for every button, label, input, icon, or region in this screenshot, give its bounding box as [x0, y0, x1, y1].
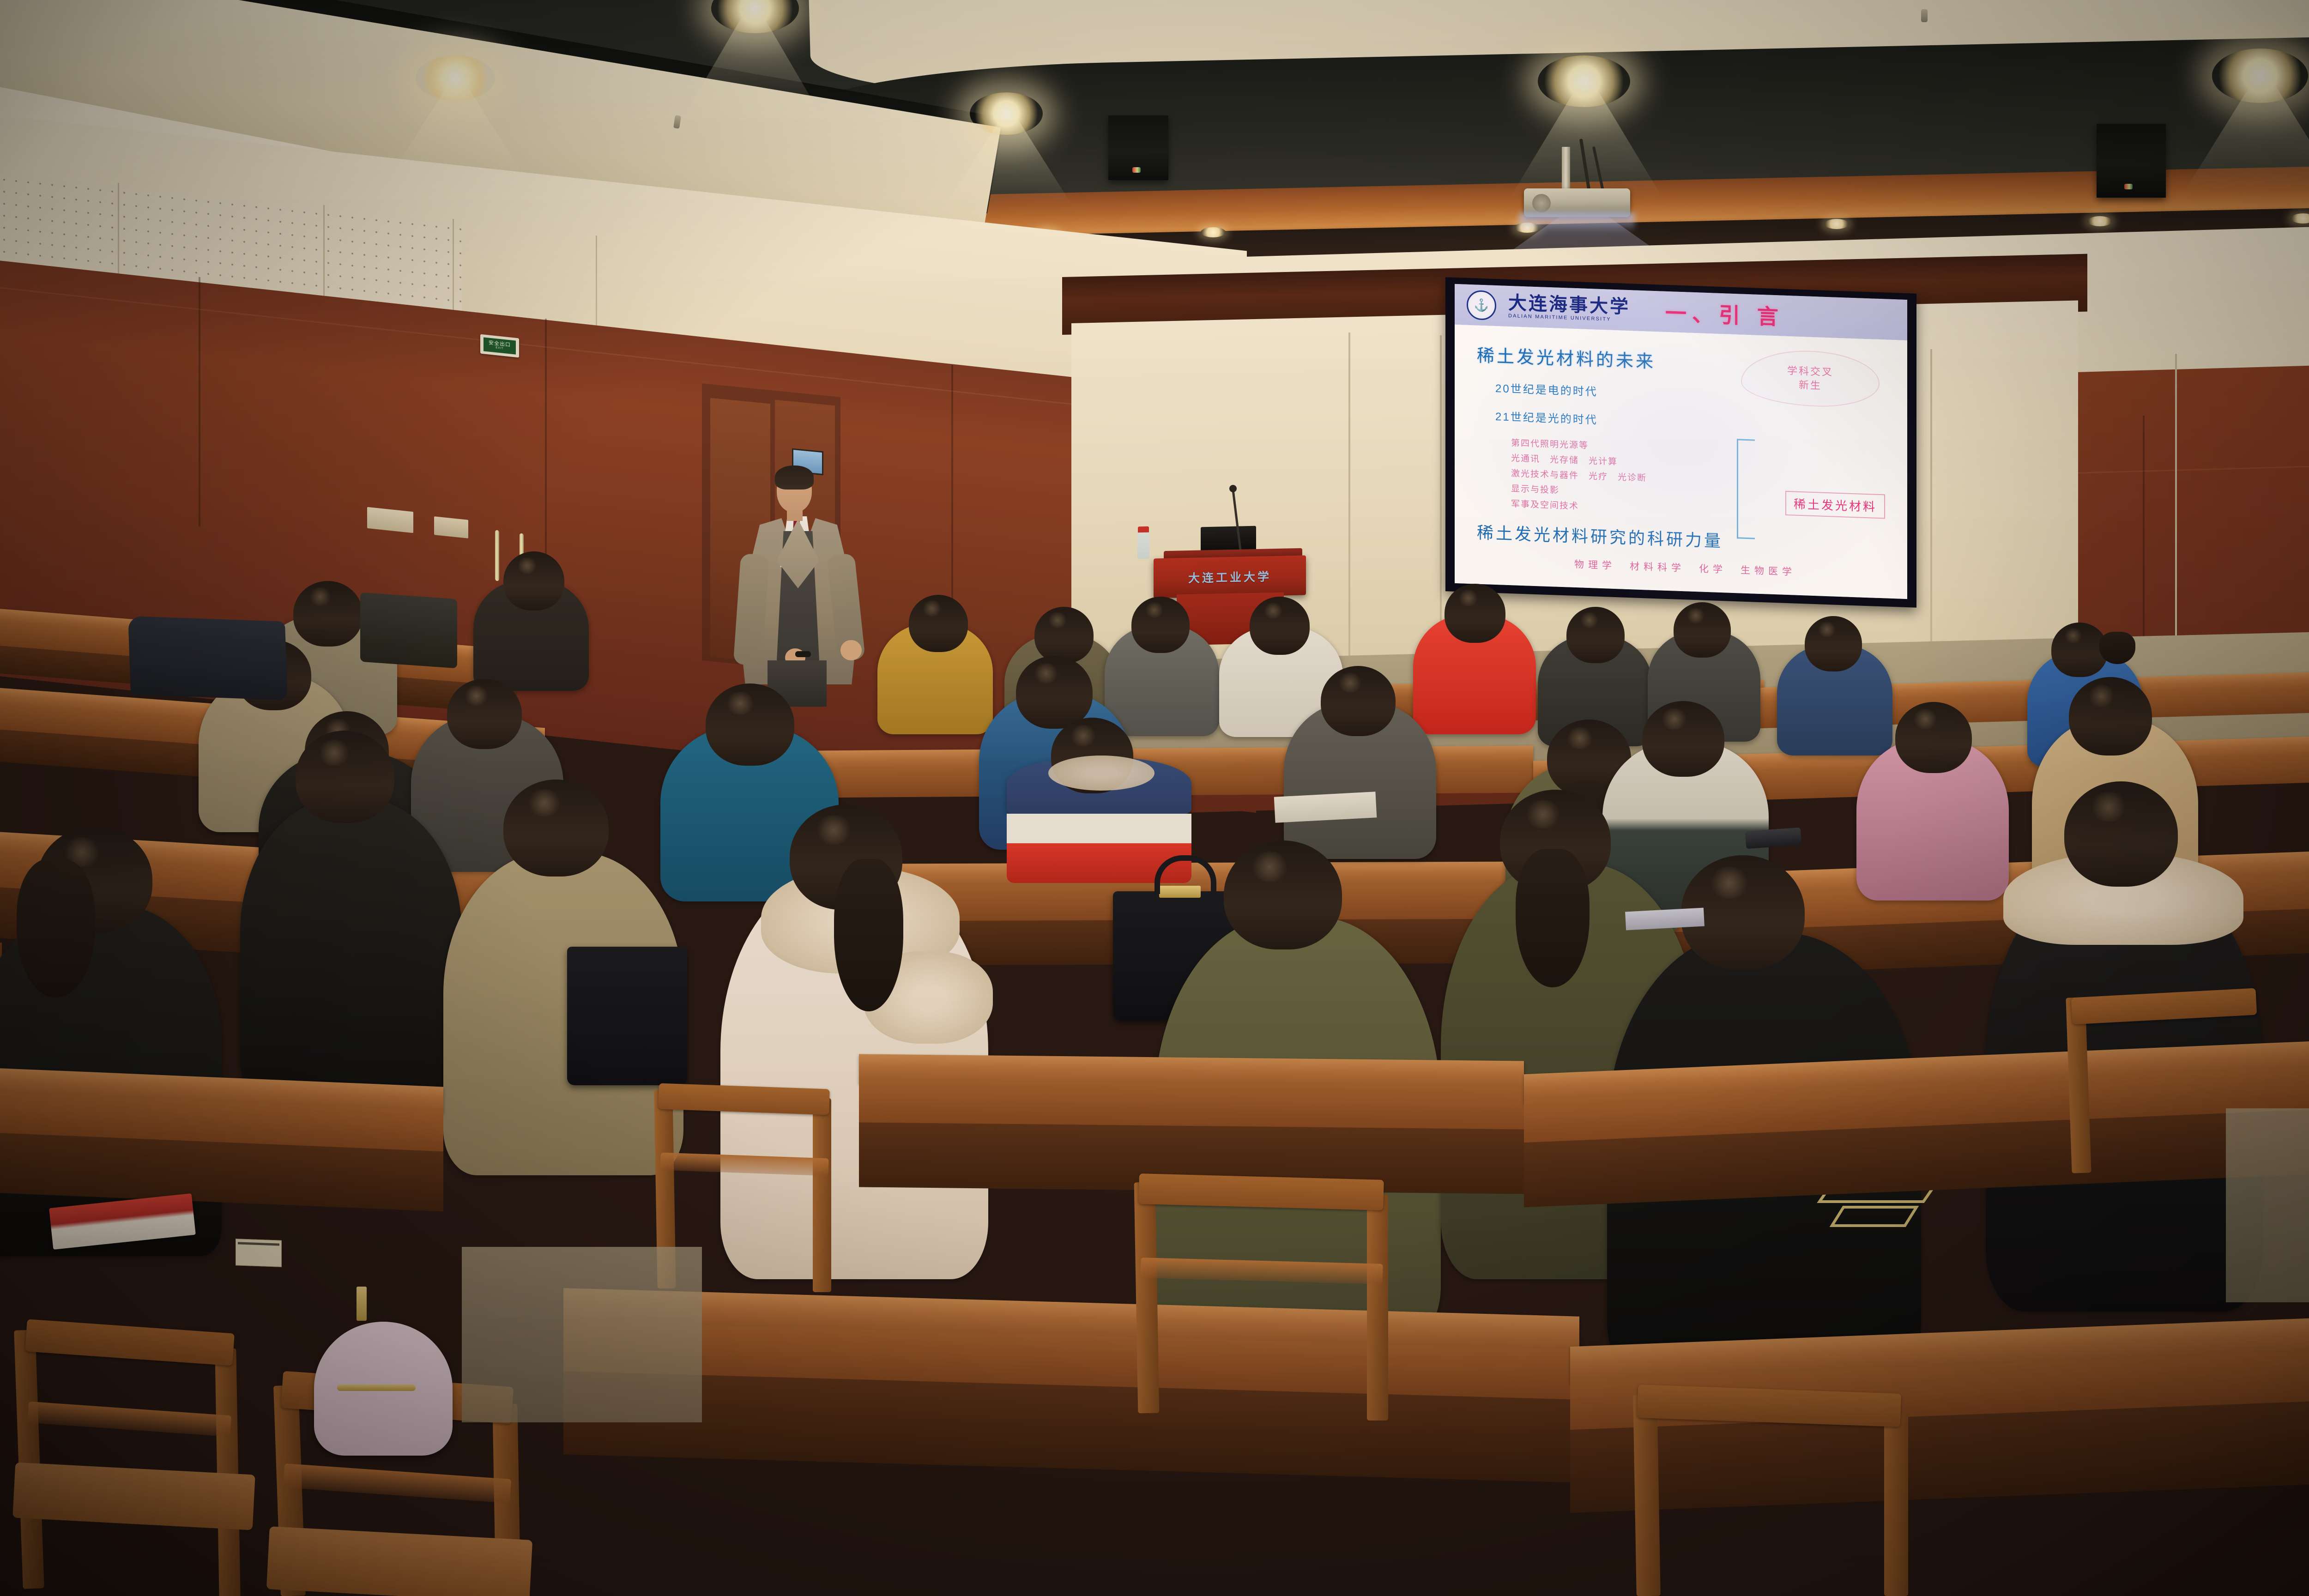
water-bottle[interactable]: [1137, 530, 1149, 559]
audience-row2-head-white-grey: [1642, 701, 1724, 777]
exit-sign: 安全出口 EXIT: [480, 334, 519, 358]
slide-footer: 物理学 材料科学 化学 生物医学: [1477, 554, 1893, 582]
backpack-on-chair[interactable]: [567, 947, 687, 1085]
handbag-pink-zip: [337, 1384, 416, 1391]
audience-row3-ponytail-dark-olive: [1516, 849, 1590, 987]
projection-screen: ⚓ 大连海事大学 DALIAN MARITIME UNIVERSITY 一、引 …: [1455, 284, 1907, 599]
speaker-hand-right: [840, 640, 862, 660]
audience-row2-tricolor-white-stripe: [1007, 814, 1191, 846]
chair-post-d2: [1367, 1194, 1388, 1421]
audience-row2-head-grey-mid: [1321, 666, 1396, 736]
slide-heading-2: 稀土发光材料研究的科研力量: [1477, 520, 1893, 558]
whiteboard-seam-4: [2175, 354, 2177, 672]
audience-row1-head-7: [1566, 607, 1625, 663]
wood-wall-seam-1: [199, 277, 200, 526]
bag-on-back-desk[interactable]: [360, 592, 457, 669]
whiteboard-seam-1: [1348, 332, 1350, 665]
audience-row3-body-black-2: [240, 799, 462, 1104]
audience-row1-head-2: [503, 551, 564, 611]
audience-row1-head-4: [1034, 607, 1094, 663]
slide-body: 稀土发光材料的未来 20世纪是电的时代 21世纪是光的时代 第四代照明光源等 光…: [1455, 325, 1907, 599]
audience-row1-head-1: [293, 581, 363, 647]
door-handle-left[interactable]: [495, 530, 499, 581]
desk-asset-tag-1: [236, 1239, 282, 1267]
ceiling-loudspeaker-right: [2097, 124, 2166, 198]
audience-row2-head-blue-coat: [1016, 656, 1093, 729]
speaker-led-left: [1132, 167, 1141, 173]
wood-wall-seam-2: [545, 319, 547, 577]
audience-row1-head-3: [909, 595, 968, 652]
wall-control-panel-2[interactable]: [434, 516, 468, 538]
chair-back-a[interactable]: [25, 1319, 235, 1366]
handbag-pink-strap-clip: [357, 1287, 367, 1321]
recessed-light-d: [1824, 219, 1849, 229]
ceiling-loudspeaker-left: [1108, 115, 1168, 180]
projector-lens: [1532, 194, 1551, 212]
phone-on-desk[interactable]: [1745, 828, 1801, 849]
recessed-light-b: [1201, 227, 1226, 237]
podium: 大连工业大学: [1154, 556, 1306, 598]
audience-row1-bun: [2099, 632, 2135, 664]
paper-sheet-on-desk[interactable]: [1274, 792, 1377, 822]
audience-row1-head-6: [1250, 597, 1310, 655]
chair-post-a1: [14, 1330, 44, 1589]
whiteboard-seam-2: [1440, 335, 1442, 668]
exit-sign-panel: 安全出口 EXIT: [484, 337, 516, 354]
chair-post-a2: [215, 1348, 240, 1596]
slide-cloud-line-1: 学科交叉: [1787, 364, 1833, 379]
lecture-hall-photo: 安全出口 EXIT ⚓ 大连海事大学 DALIAN MARITIME UNIVE…: [0, 0, 2309, 1596]
wood-wall-seam-3: [951, 365, 953, 623]
speaker-led-right: [2124, 184, 2133, 189]
floor-aisle: [462, 1247, 702, 1422]
university-name-block: 大连海事大学 DALIAN MARITIME UNIVERSITY: [1508, 293, 1630, 323]
chair-post-e2: [1884, 1413, 1908, 1596]
slide-line-2: 21世纪是光的时代: [1495, 407, 1893, 437]
slide-brace-bracket: [1737, 439, 1755, 539]
audience-row1-head-5: [1131, 597, 1190, 653]
chair-seat-b[interactable]: [266, 1526, 532, 1596]
sprinkler-head-right: [1921, 9, 1928, 22]
chair-rail-a: [27, 1402, 231, 1437]
slide-title: 一、引 言: [1665, 296, 1784, 331]
audience-row3-ponytail-black-left: [17, 859, 95, 997]
chair-back-c[interactable]: [658, 1083, 830, 1115]
podium-university-label: 大连工业大学: [1188, 568, 1271, 586]
chair-rail-b: [283, 1463, 511, 1503]
floor-aisle-right: [2226, 1108, 2309, 1302]
slide-cloud-line-2: 新生: [1799, 378, 1822, 393]
slide-highlight-box: 稀土发光材料: [1785, 491, 1885, 519]
audience-row1-head-red: [1445, 584, 1505, 643]
audience-row2-head-pink: [1895, 702, 1972, 773]
wood-wall-seam-4: [2143, 416, 2145, 674]
speaker-hair: [775, 465, 814, 490]
university-logo-icon: ⚓: [1467, 290, 1496, 320]
audience-row2-head-tan-right: [2069, 677, 2152, 756]
audience-row1-head-9: [1805, 616, 1862, 671]
projector-mount-rod: [1562, 147, 1570, 191]
audience-row2-head-teal: [706, 683, 794, 766]
audience-row3-head-tan: [503, 780, 609, 877]
chair-back-d[interactable]: [1138, 1173, 1384, 1210]
audience-row3-head-olive-green: [1224, 840, 1342, 949]
coat-on-back-desk: [128, 616, 288, 700]
audience-row3-head-black-2: [296, 731, 394, 823]
recessed-light-e: [2087, 216, 2112, 226]
chair-post-e1: [1633, 1395, 1661, 1596]
audience-row3-ponytail-cream: [834, 859, 903, 1011]
chair-post-c2: [813, 1098, 831, 1292]
audience-row1-head-8: [1674, 602, 1731, 658]
water-bottle-cap: [1138, 526, 1149, 533]
whiteboard-seam-3: [1930, 349, 1932, 672]
exit-sign-label-en: EXIT: [496, 346, 503, 351]
audience-row2-head-grey-glasses: [447, 679, 522, 749]
audience-row2-tricolor-fur-collar: [1048, 756, 1154, 791]
microphone-head-icon: [1229, 485, 1237, 492]
laser-pointer[interactable]: [795, 651, 811, 657]
audience-row3-head-fur-hood-right: [2064, 781, 2178, 887]
chair-post-d1: [1134, 1182, 1160, 1414]
